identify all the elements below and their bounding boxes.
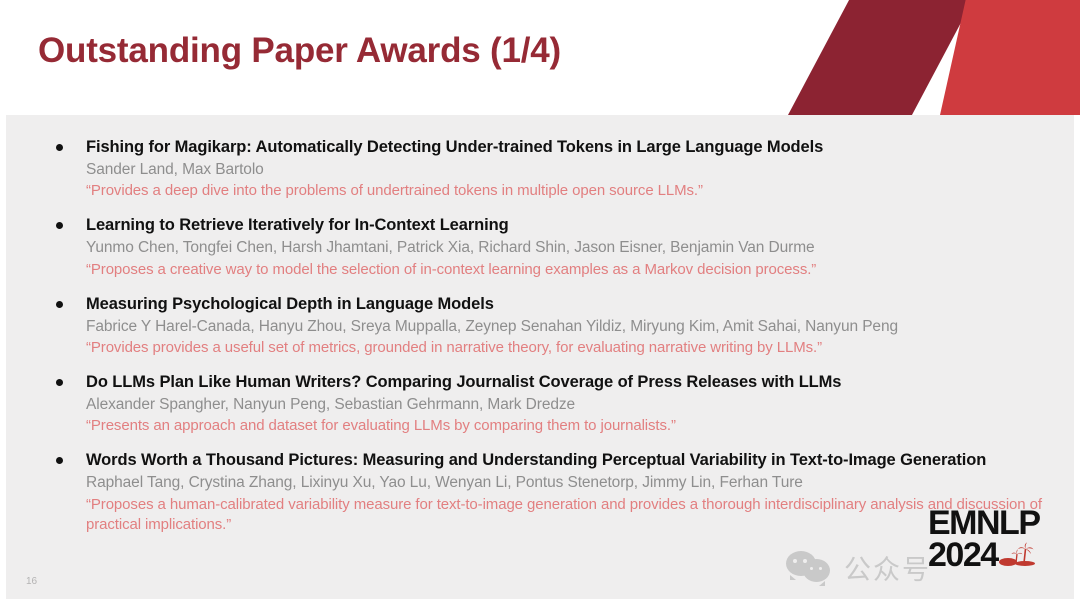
- award-authors: Raphael Tang, Crystina Zhang, Lixinyu Xu…: [86, 473, 1056, 493]
- list-item: Measuring Psychological Depth in Languag…: [46, 294, 1056, 358]
- list-item: Fishing for Magikarp: Automatically Dete…: [46, 137, 1056, 201]
- bullet-icon: [56, 457, 63, 464]
- wechat-bubble-small: [803, 559, 830, 582]
- slide-number: 16: [26, 576, 37, 587]
- list-item: Do LLMs Plan Like Human Writers? Compari…: [46, 372, 1056, 436]
- wechat-watermark: 公众号: [786, 548, 931, 587]
- award-authors: Yunmo Chen, Tongfei Chen, Harsh Jhamtani…: [86, 238, 1056, 258]
- wechat-icon: [786, 551, 832, 585]
- award-authors: Fabrice Y Harel-Canada, Hanyu Zhou, Srey…: [86, 317, 1056, 337]
- emnlp-logo-year-row: 2024: [928, 539, 1060, 571]
- award-title: Words Worth a Thousand Pictures: Measuri…: [86, 450, 1056, 472]
- page-title: Outstanding Paper Awards (1/4): [38, 31, 561, 71]
- award-title: Learning to Retrieve Iteratively for In-…: [86, 215, 1056, 237]
- award-title: Fishing for Magikarp: Automatically Dete…: [86, 137, 1056, 159]
- emnlp-logo: EMNLP 2024: [928, 507, 1060, 585]
- list-item: Learning to Retrieve Iteratively for In-…: [46, 215, 1056, 279]
- slide-body: Fishing for Magikarp: Automatically Dete…: [6, 115, 1074, 599]
- wechat-eye-dot: [819, 567, 822, 570]
- bullet-icon: [56, 301, 63, 308]
- award-citation-quote: “Presents an approach and dataset for ev…: [86, 416, 1056, 436]
- slide-header: Outstanding Paper Awards (1/4): [0, 0, 1080, 115]
- list-item: Words Worth a Thousand Pictures: Measuri…: [46, 450, 1056, 534]
- award-title: Measuring Psychological Depth in Languag…: [86, 294, 1056, 316]
- award-citation-quote: “Proposes a human-calibrated variability…: [86, 495, 1056, 535]
- award-authors: Sander Land, Max Bartolo: [86, 160, 1056, 180]
- slide: Outstanding Paper Awards (1/4) Fishing f…: [0, 0, 1080, 605]
- award-citation-quote: “Provides a deep dive into the problems …: [86, 181, 1056, 201]
- watermark-text: 公众号: [844, 548, 931, 587]
- bullet-icon: [56, 222, 63, 229]
- bullet-icon: [56, 379, 63, 386]
- awards-list: Fishing for Magikarp: Automatically Dete…: [46, 137, 1056, 549]
- emnlp-logo-wordmark: EMNLP: [928, 507, 1060, 539]
- emnlp-logo-year: 2024: [928, 539, 998, 571]
- award-citation-quote: “Provides provides a useful set of metri…: [86, 338, 1056, 358]
- award-authors: Alexander Spangher, Nanyun Peng, Sebasti…: [86, 395, 1056, 415]
- bullet-icon: [56, 144, 63, 151]
- wechat-eye-dot: [793, 559, 797, 563]
- award-citation-quote: “Proposes a creative way to model the se…: [86, 260, 1056, 280]
- award-title: Do LLMs Plan Like Human Writers? Compari…: [86, 372, 1056, 394]
- wechat-eye-dot: [810, 567, 813, 570]
- palm-tree-icon: [999, 540, 1035, 569]
- wechat-eye-dot: [803, 559, 807, 563]
